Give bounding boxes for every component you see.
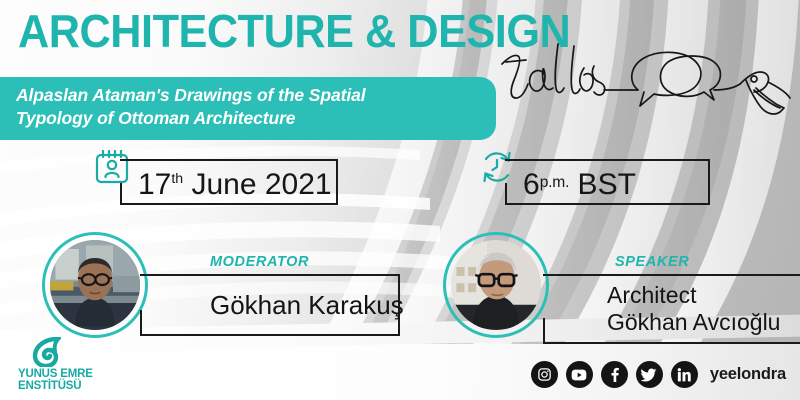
date-ordinal: th [171, 170, 183, 186]
social-handle: yeelondra [710, 365, 786, 384]
moderator-name-frame: Gökhan Karakuş [140, 274, 400, 336]
subtitle-line-2: Typology of Ottoman Architecture [16, 107, 470, 130]
speaker-avatar-ring [443, 232, 549, 338]
social-links: yeelondra [531, 361, 786, 388]
brand-name-line-2: ENSTİTÜSÜ [18, 380, 114, 392]
yunus-emre-swirl-icon [30, 337, 72, 367]
youtube-icon[interactable] [566, 361, 593, 388]
speaker-name-line-2: Gökhan Avcıoğlu [543, 309, 780, 336]
date-rest: June 2021 [183, 168, 331, 201]
date-day: 17 [138, 168, 171, 201]
talks-script-illustration [498, 28, 798, 128]
time-meridiem: p.m. [540, 174, 570, 191]
brand-logo: YUNUS EMRE ENSTİTÜSÜ [18, 337, 114, 392]
time-zone: BST [569, 168, 636, 201]
time-hour: 6 [523, 168, 540, 201]
subtitle-banner: Alpaslan Ataman's Drawings of the Spatia… [0, 77, 496, 140]
page-title: ARCHITECTURE & DESIGN [18, 6, 570, 57]
subtitle-line-1: Alpaslan Ataman's Drawings of the Spatia… [16, 84, 470, 107]
linkedin-icon[interactable] [671, 361, 698, 388]
brand-name-line-1: YUNUS EMRE [18, 368, 114, 380]
moderator-name: Gökhan Karakuş [140, 290, 404, 320]
speaker-name-line-1: Architect [543, 282, 780, 309]
event-date-text: 17th June 2021 [120, 168, 348, 202]
avatar [451, 240, 541, 330]
speaker-name-frame: Architect Gökhan Avcıoğlu [543, 274, 800, 344]
twitter-icon[interactable] [636, 361, 663, 388]
event-poster: ARCHITECTURE & DESIGN Alpaslan Ataman's … [0, 0, 800, 400]
time-frame: 6p.m. BST [505, 159, 710, 205]
speaker-role-label: SPEAKER [615, 254, 689, 270]
moderator-avatar-ring [42, 232, 148, 338]
avatar [50, 240, 140, 330]
date-frame: 17th June 2021 [120, 159, 338, 205]
event-time-text: 6p.m. BST [505, 168, 652, 202]
moderator-portrait [50, 240, 140, 330]
instagram-icon[interactable] [531, 361, 558, 388]
brand-name: YUNUS EMRE ENSTİTÜSÜ [18, 368, 114, 392]
speaker-portrait [451, 240, 541, 330]
moderator-role-label: MODERATOR [210, 254, 309, 270]
facebook-icon[interactable] [601, 361, 628, 388]
